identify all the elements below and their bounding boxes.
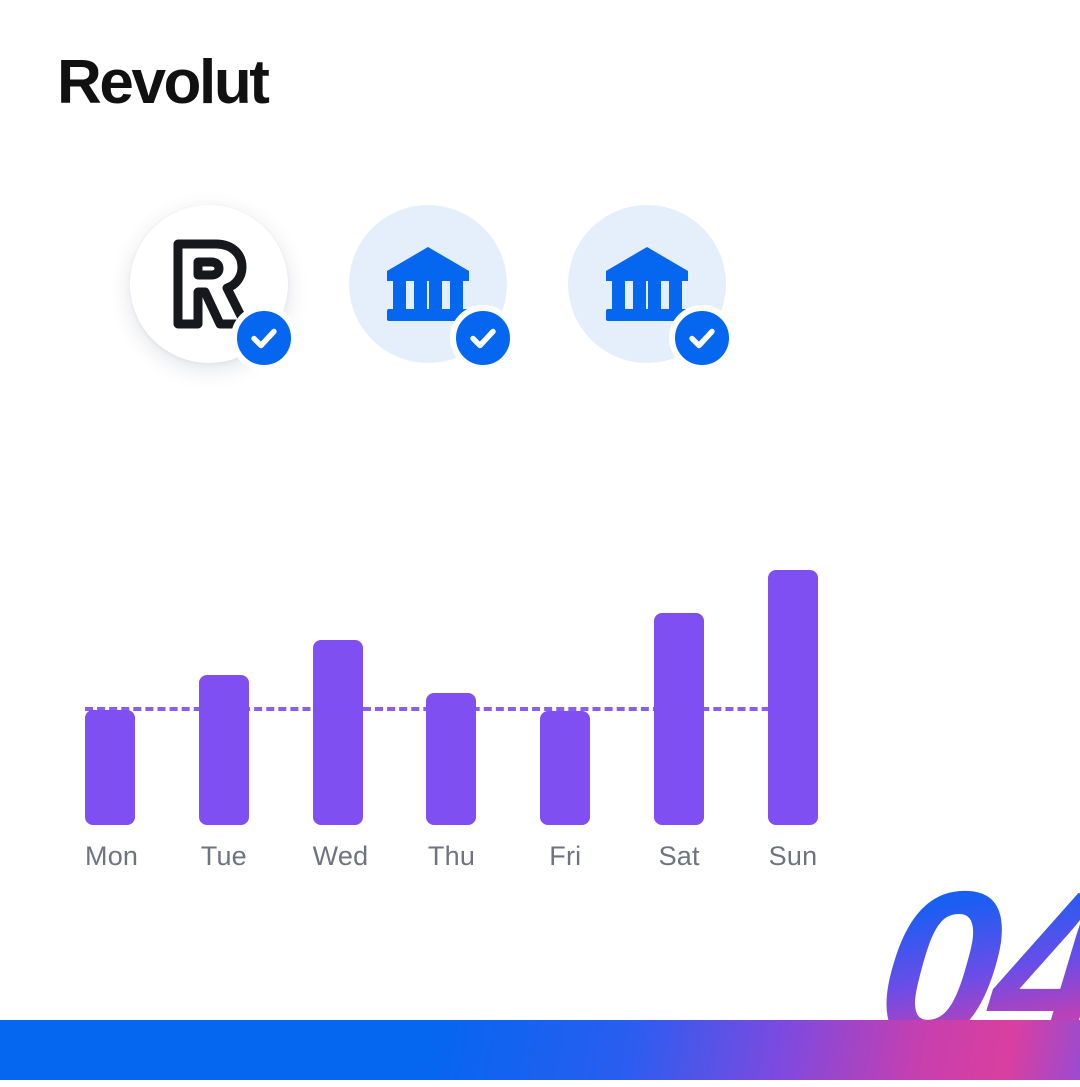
bar-sun[interactable] [768, 570, 818, 825]
bar-mon[interactable] [85, 710, 135, 825]
axis-label-sun: Sun [768, 841, 818, 872]
check-icon [685, 321, 719, 355]
weekly-bar-chart [85, 550, 818, 825]
bank-icon [604, 245, 690, 323]
account-chip-bank-1[interactable] [349, 205, 507, 363]
bottom-gradient-strip [0, 1020, 1080, 1080]
account-chip-bank-2[interactable] [568, 205, 726, 363]
bar-series [85, 550, 818, 825]
bar-slot [654, 550, 704, 825]
axis-label-tue: Tue [199, 841, 249, 872]
verified-badge-bank-1 [450, 305, 516, 371]
brand-wordmark: Revolut [57, 52, 268, 114]
axis-label-fri: Fri [540, 841, 590, 872]
bar-slot [540, 550, 590, 825]
linked-accounts-row [130, 205, 726, 363]
account-chip-revolut[interactable] [130, 205, 288, 363]
bar-wed[interactable] [313, 640, 363, 825]
bar-slot [426, 550, 476, 825]
bar-sat[interactable] [654, 613, 704, 825]
bar-slot [199, 550, 249, 825]
bar-fri[interactable] [540, 711, 590, 825]
bar-thu[interactable] [426, 693, 476, 825]
axis-label-wed: Wed [313, 841, 363, 872]
verified-badge-bank-2 [669, 305, 735, 371]
verified-badge-revolut [231, 305, 297, 371]
average-dashed-line [85, 707, 818, 711]
axis-label-sat: Sat [654, 841, 704, 872]
axis-label-thu: Thu [426, 841, 476, 872]
bar-slot [85, 550, 135, 825]
axis-label-mon: Mon [85, 841, 135, 872]
bar-slot [768, 550, 818, 825]
check-icon [247, 321, 281, 355]
bar-slot [313, 550, 363, 825]
x-axis-tick-labels: MonTueWedThuFriSatSun [85, 841, 818, 872]
bank-icon [385, 245, 471, 323]
bar-tue[interactable] [199, 675, 249, 825]
check-icon [466, 321, 500, 355]
